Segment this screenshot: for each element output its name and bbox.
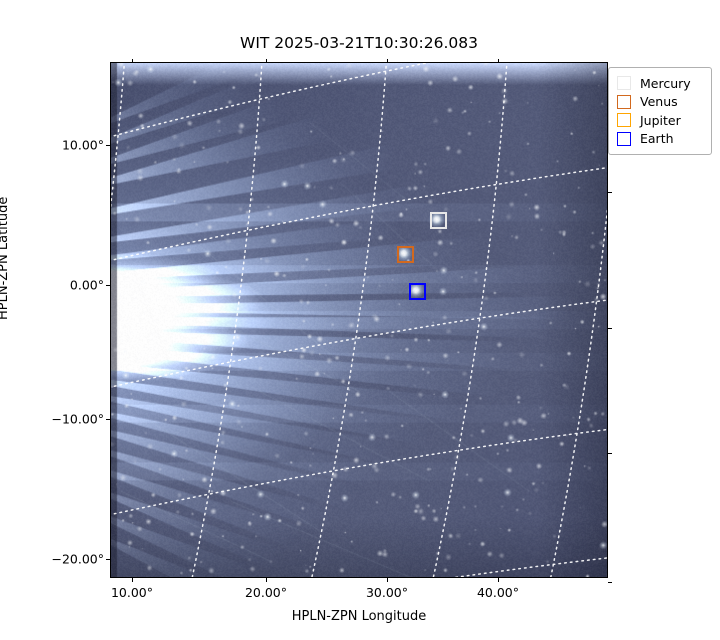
legend[interactable]: MercuryVenusJupiterEarth <box>608 67 712 155</box>
x-axis-label: HPLN-ZPN Longitude <box>110 609 608 624</box>
x-tick-mark <box>132 578 133 582</box>
y-tick-mark <box>106 145 110 146</box>
y-tick-mark <box>106 559 110 560</box>
y-tick-label: 0.00° <box>12 278 104 293</box>
y-axis-label: HPLN-ZPN Latitude <box>0 197 11 320</box>
x-tick-mark <box>498 578 499 582</box>
legend-swatch-venus-icon <box>617 95 631 109</box>
legend-label: Mercury <box>640 76 691 91</box>
x-tick-mark-top <box>498 59 499 63</box>
coronagraph-image <box>111 63 607 577</box>
legend-item-mercury[interactable]: Mercury <box>617 74 704 93</box>
legend-label: Jupiter <box>640 113 681 128</box>
legend-item-jupiter[interactable]: Jupiter <box>617 111 704 130</box>
x-tick-mark <box>387 578 388 582</box>
coronagraph-canvas <box>111 63 607 577</box>
legend-swatch-mercury-icon <box>617 76 631 90</box>
x-tick-mark-top <box>266 59 267 63</box>
y-tick-mark <box>106 419 110 420</box>
x-tick-mark-top <box>387 59 388 63</box>
x-tick-label: 10.00° <box>111 585 153 600</box>
legend-item-venus[interactable]: Venus <box>617 93 704 112</box>
x-tick-mark <box>266 578 267 582</box>
figure-canvas: WIT 2025-03-21T10:30:26.083 10.00°0.00°−… <box>0 0 720 640</box>
legend-label: Earth <box>640 131 674 146</box>
legend-item-earth[interactable]: Earth <box>617 130 704 149</box>
x-tick-mark-top <box>132 59 133 63</box>
y-tick-mark-right <box>608 328 612 329</box>
page-title: WIT 2025-03-21T10:30:26.083 <box>110 34 608 52</box>
y-tick-mark-right <box>608 582 612 583</box>
plot-axes[interactable] <box>110 62 608 578</box>
y-tick-mark-right <box>608 453 612 454</box>
y-tick-mark-right <box>608 192 612 193</box>
y-tick-label: −20.00° <box>12 552 104 567</box>
y-tick-label: −10.00° <box>12 412 104 427</box>
y-tick-label: 10.00° <box>12 138 104 153</box>
y-tick-mark <box>106 285 110 286</box>
x-tick-label: 20.00° <box>245 585 287 600</box>
legend-swatch-earth-icon <box>617 132 631 146</box>
x-tick-label: 40.00° <box>477 585 519 600</box>
x-tick-label: 30.00° <box>366 585 408 600</box>
legend-swatch-jupiter-icon <box>617 113 631 127</box>
legend-label: Venus <box>640 94 678 109</box>
